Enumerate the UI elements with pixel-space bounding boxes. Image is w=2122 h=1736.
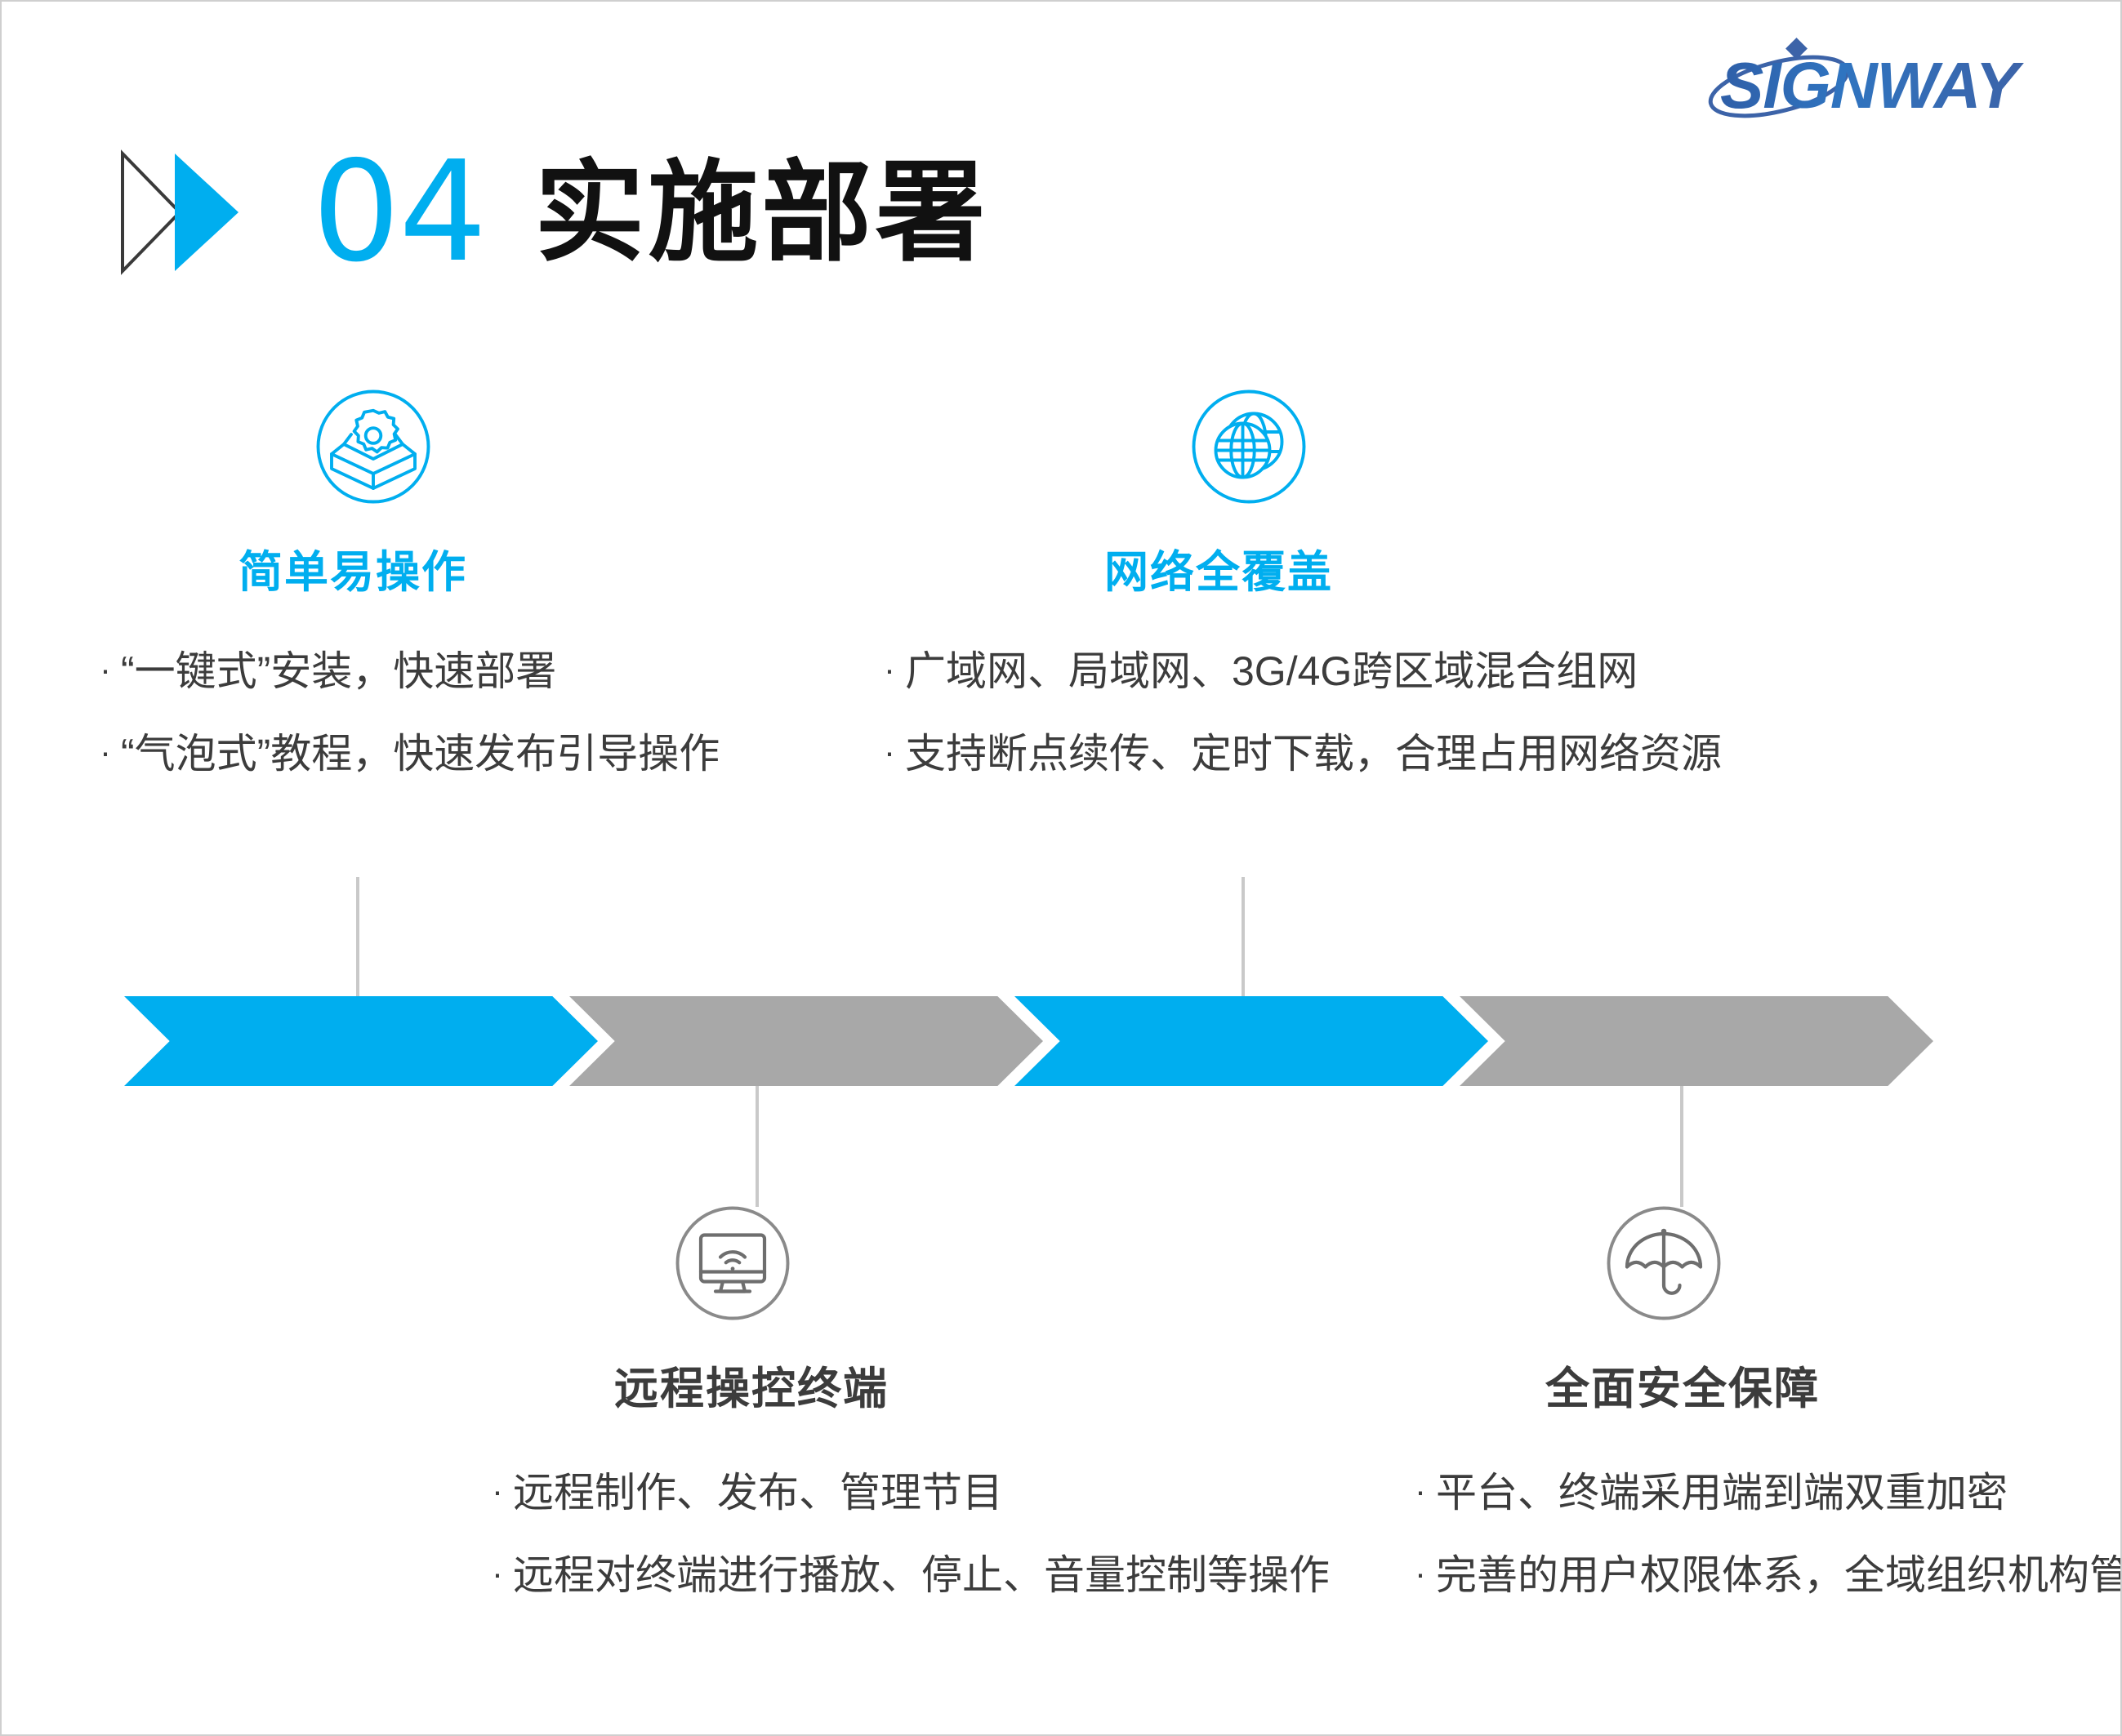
bullet-text: “一键式”安装，快速部署	[121, 648, 556, 696]
feature-block-network: 网络全覆盖 · 广域网、局域网、3G/4G跨区域混合组网 · 支持断点续传、定时…	[884, 385, 1799, 812]
bullet-text: 广域网、局域网、3G/4G跨区域混合组网	[905, 648, 1638, 696]
connector-line-security	[1680, 1086, 1683, 1207]
feature-block-easy: 简单易操作 · “一键式”安装，快速部署 · “气泡式”教程，快速发布引导操作	[100, 385, 916, 812]
chevron-step-1	[124, 996, 598, 1086]
bullet-marker: ·	[100, 730, 121, 774]
bullet-marker: ·	[100, 648, 121, 692]
bullet-marker: ·	[1415, 1551, 1436, 1596]
bullet-text: 支持断点续传、定时下载，合理占用网络资源	[905, 730, 1722, 778]
logo-wordmark: SIGNWAY	[1720, 49, 2025, 122]
double-triangle-icon	[116, 147, 288, 278]
bullet-marker: ·	[492, 1551, 513, 1596]
bullet-text: 平台、终端采用端到端双重加密	[1436, 1469, 2008, 1517]
bullet-text: “气泡式”教程，快速发布引导操作	[121, 730, 720, 778]
bullet-marker: ·	[1415, 1469, 1436, 1513]
list-item: · 支持断点续传、定时下载，合理占用网络资源	[884, 730, 1799, 778]
feature-heading-easy: 简单易操作	[100, 536, 916, 600]
chevron-progress-band	[124, 996, 1905, 1086]
connector-line-network	[1242, 877, 1245, 998]
feature-heading-network: 网络全覆盖	[884, 536, 1799, 600]
list-item: · “气泡式”教程，快速发布引导操作	[100, 730, 916, 778]
list-item: · 平台、终端采用端到端双重加密	[1415, 1469, 2122, 1517]
bullet-text: 远程制作、发布、管理节目	[513, 1469, 1003, 1517]
list-item: · 完善的用户权限体系，全域组织机构管理	[1415, 1551, 2122, 1600]
umbrella-icon	[1603, 1202, 1725, 1324]
slide-root: SIGNWAY 04 实施部署	[0, 0, 2122, 1736]
feature-bullets-easy: · “一键式”安装，快速部署 · “气泡式”教程，快速发布引导操作	[100, 648, 916, 778]
feature-bullets-network: · 广域网、局域网、3G/4G跨区域混合组网 · 支持断点续传、定时下载，合理占…	[884, 648, 1799, 778]
feature-block-remote: 远程操控终端 · 远程制作、发布、管理节目 · 远程对终端进行播放、停止、音量控…	[492, 1202, 1308, 1634]
globe-icon	[1188, 385, 1310, 508]
signway-logo: SIGNWAY	[1704, 33, 2055, 122]
list-item: · 远程对终端进行播放、停止、音量控制等操作	[492, 1551, 1308, 1600]
feature-bullets-remote: · 远程制作、发布、管理节目 · 远程对终端进行播放、停止、音量控制等操作	[492, 1469, 1308, 1600]
feature-block-security: 全面安全保障 · 平台、终端采用端到端双重加密 · 完善的用户权限体系，全域组织…	[1415, 1202, 2122, 1634]
bullet-marker: ·	[884, 730, 905, 774]
monitor-wifi-icon	[671, 1202, 794, 1324]
bullet-marker: ·	[884, 648, 905, 692]
feature-heading-remote: 远程操控终端	[492, 1352, 1308, 1417]
feature-bullets-security: · 平台、终端采用端到端双重加密 · 完善的用户权限体系，全域组织机构管理	[1415, 1469, 2122, 1600]
chevron-step-2	[569, 996, 1043, 1086]
section-number: 04	[312, 143, 485, 282]
list-item: · 广域网、局域网、3G/4G跨区域混合组网	[884, 648, 1799, 696]
list-item: · 远程制作、发布、管理节目	[492, 1469, 1308, 1517]
list-item: · “一键式”安装，快速部署	[100, 648, 916, 696]
connector-line-easy	[356, 877, 359, 998]
page-title: 04 实施部署	[116, 139, 988, 286]
bullet-text: 完善的用户权限体系，全域组织机构管理	[1436, 1551, 2122, 1600]
open-box-gear-icon	[312, 385, 435, 508]
connector-line-remote	[756, 1086, 759, 1207]
chevron-step-4	[1460, 996, 1933, 1086]
feature-heading-security: 全面安全保障	[1415, 1352, 2122, 1417]
section-title: 实施部署	[534, 158, 988, 268]
chevron-step-3	[1014, 996, 1488, 1086]
bullet-text: 远程对终端进行播放、停止、音量控制等操作	[513, 1551, 1330, 1600]
bullet-marker: ·	[492, 1469, 513, 1513]
